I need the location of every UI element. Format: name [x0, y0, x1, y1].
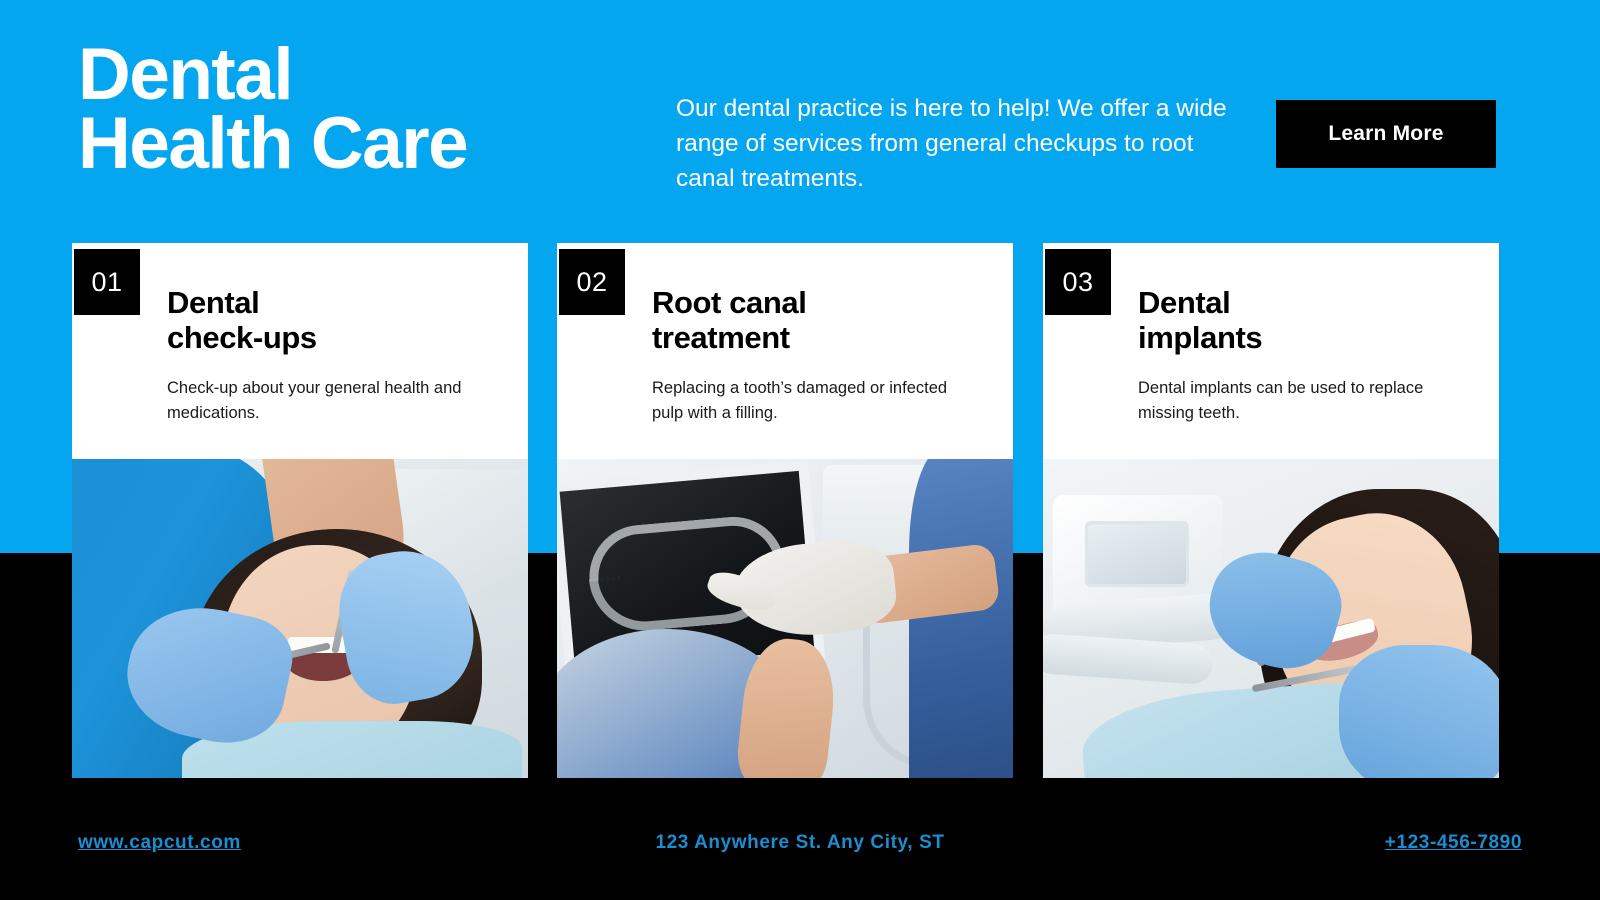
- card-photo-dental-implants: [1043, 459, 1499, 779]
- card-text-panel: 02 Root canal treatment Replacing a toot…: [557, 243, 1013, 459]
- dental-unit-screen-shape: [1085, 521, 1189, 587]
- service-card-dental-checkups[interactable]: 01 Dental check-ups Check-up about your …: [72, 243, 528, 779]
- card-number-badge: 03: [1045, 249, 1111, 315]
- card-heading-line-2: check-ups: [167, 320, 507, 355]
- service-card-dental-implants[interactable]: 03 Dental implants Dental implants can b…: [1043, 243, 1499, 779]
- card-heading-line-1: Dental: [1138, 285, 1478, 320]
- card-heading: Dental implants: [1138, 285, 1478, 355]
- service-card-root-canal[interactable]: 02 Root canal treatment Replacing a toot…: [557, 243, 1013, 779]
- card-number-badge: 02: [559, 249, 625, 315]
- footer-address: 123 Anywhere St. Any City, ST: [0, 832, 1600, 854]
- blue-glove-bottom-shape: [1339, 645, 1499, 779]
- footer-phone-link[interactable]: +123-456-7890: [1385, 832, 1522, 854]
- card-description: Dental implants can be used to replace m…: [1138, 376, 1468, 426]
- card-description: Replacing a tooth’s damaged or infected …: [652, 376, 982, 426]
- card-text-panel: 01 Dental check-ups Check-up about your …: [72, 243, 528, 459]
- page-title: Dental Health Care: [78, 40, 698, 179]
- learn-more-button[interactable]: Learn More: [1276, 100, 1496, 168]
- card-heading-line-1: Dental: [167, 285, 507, 320]
- footer-bar: www.capcut.com 123 Anywhere St. Any City…: [0, 778, 1600, 900]
- poster-canvas: Dental Health Care Our dental practice i…: [0, 0, 1600, 900]
- card-heading: Root canal treatment: [652, 285, 992, 355]
- card-photo-root-canal-xray: [557, 459, 1013, 779]
- card-heading-line-2: implants: [1138, 320, 1478, 355]
- intro-paragraph: Our dental practice is here to help! We …: [676, 92, 1236, 196]
- card-heading-line-2: treatment: [652, 320, 992, 355]
- card-heading-line-1: Root canal: [652, 285, 992, 320]
- page-title-line-1: Dental: [78, 40, 698, 109]
- card-heading: Dental check-ups: [167, 285, 507, 355]
- card-description: Check-up about your general health and m…: [167, 376, 497, 426]
- card-number-badge: 01: [74, 249, 140, 315]
- dentist-scrubs-shape: [909, 459, 1013, 779]
- card-text-panel: 03 Dental implants Dental implants can b…: [1043, 243, 1499, 459]
- page-title-line-2: Health Care: [78, 109, 698, 178]
- card-photo-dental-checkup: [72, 459, 528, 779]
